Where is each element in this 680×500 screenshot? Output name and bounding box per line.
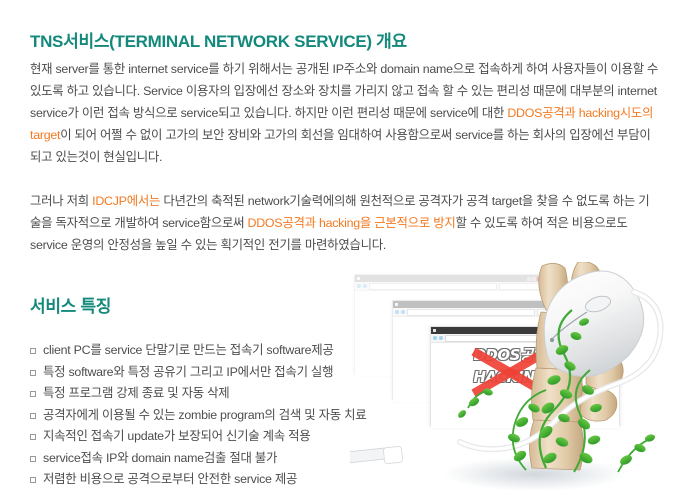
list-item-label: service접속 IP와 domain name검출 절대 불가 <box>43 451 277 465</box>
window-controls <box>527 277 541 281</box>
features-list: client PC를 service 단말기로 만드는 접속기 software… <box>30 340 366 491</box>
window-icon <box>395 303 398 306</box>
list-item-label: 특정 프로그램 강제 종료 및 자동 삭제 <box>43 386 229 400</box>
page-title: TNS서비스(TERMINAL NETWORK SERVICE) 개요 <box>30 27 407 52</box>
square-bullet-icon <box>30 391 36 397</box>
window-icon <box>433 329 436 332</box>
list-item: 특정 프로그램 강제 종료 및 자동 삭제 <box>30 383 366 405</box>
address-bar <box>407 309 535 316</box>
wooden-mannequin-arm <box>529 262 623 470</box>
browser-content <box>431 343 619 428</box>
red-cross-stroke-icon <box>471 348 548 398</box>
square-bullet-icon <box>30 348 36 354</box>
browser-window-middle <box>392 300 582 400</box>
forward-icon <box>401 310 405 314</box>
address-bar <box>445 335 573 342</box>
browser-content <box>355 291 543 376</box>
maximize-icon <box>570 303 574 307</box>
green-vine-decoration <box>457 310 656 472</box>
close-icon <box>575 303 579 307</box>
red-cross-stroke-icon <box>471 348 548 398</box>
search-box <box>499 283 541 290</box>
browser-toolbar <box>393 308 581 317</box>
search-box <box>537 309 579 316</box>
minimize-icon <box>565 303 569 307</box>
back-icon <box>357 284 361 288</box>
mouse-cable <box>460 292 660 449</box>
overview-paragraph-1: 현재 server를 통한 internet service를 하기 위해서는 … <box>30 58 660 168</box>
browser-window-back <box>354 274 544 374</box>
forward-icon <box>439 336 443 340</box>
minimize-icon <box>527 277 531 281</box>
wooden-hand-mouse-vine-art <box>350 262 680 500</box>
security-illustration: DDOS공격 HACKING <box>350 262 680 500</box>
scroll-wheel <box>583 293 612 314</box>
window-controls <box>603 329 617 333</box>
list-item: 지속적인 접속기 update가 보장되어 신기술 계속 적용 <box>30 426 366 448</box>
ddos-hacking-blocked-stamp: DDOS공격 HACKING <box>460 340 560 404</box>
list-item-label: 특정 software와 특정 공유기 그리고 IP에서만 접속기 실행 <box>43 365 333 379</box>
list-item-label: 저렴한 비용으로 공격으로부터 안전한 service 제공 <box>43 472 297 486</box>
browser-toolbar <box>355 282 543 291</box>
list-item: 저렴한 비용으로 공격으로부터 안전한 service 제공 <box>30 469 366 491</box>
square-bullet-icon <box>30 456 36 462</box>
search-box <box>575 335 617 342</box>
paragraph-2-part-1: 그러나 저희 <box>30 194 92 208</box>
list-item: client PC를 service 단말기로 만드는 접속기 software… <box>30 340 366 362</box>
maximize-icon <box>608 329 612 333</box>
square-bullet-icon <box>30 477 36 483</box>
browser-titlebar <box>431 327 619 334</box>
window-icon <box>357 277 360 280</box>
features-title: 서비스 특징 <box>30 292 111 317</box>
stamp-line-1: DDOS공격 <box>460 344 560 365</box>
list-item: 특정 software와 특정 공유기 그리고 IP에서만 접속기 실행 <box>30 362 366 384</box>
browser-toolbar <box>431 334 619 343</box>
window-controls <box>565 303 579 307</box>
paragraph-1-part-2: 이 되어 어쩔 수 없이 고가의 보안 장비와 고가의 회선을 임대하여 사용함… <box>30 128 651 164</box>
square-bullet-icon <box>30 434 36 440</box>
ground-shadow <box>443 457 627 491</box>
back-icon <box>433 336 437 340</box>
close-icon <box>613 329 617 333</box>
browser-titlebar <box>393 301 581 308</box>
list-item-label: 지속적인 접속기 update가 보장되어 신기술 계속 적용 <box>43 429 310 443</box>
list-item-label: 공격자에게 이용될 수 있는 zombie program의 검색 및 자동 치… <box>43 408 366 422</box>
paragraph-2-highlight-2: DDOS공격과 hacking을 근본적으로 방지 <box>248 216 456 230</box>
stamp-line-2: HACKING <box>460 368 560 386</box>
square-bullet-icon <box>30 370 36 376</box>
square-bullet-icon <box>30 413 36 419</box>
computer-mouse-icon <box>350 271 660 464</box>
overview-body: 현재 server를 통한 internet service를 하기 위해서는 … <box>30 58 660 256</box>
list-item: 공격자에게 이용될 수 있는 zombie program의 검색 및 자동 치… <box>30 405 366 427</box>
back-icon <box>395 310 399 314</box>
browser-content <box>393 317 581 402</box>
forward-icon <box>363 284 367 288</box>
browser-window-front <box>430 326 620 426</box>
address-bar <box>369 283 497 290</box>
page-root: TNS서비스(TERMINAL NETWORK SERVICE) 개요 현재 s… <box>0 0 680 500</box>
minimize-icon <box>603 329 607 333</box>
close-icon <box>537 277 541 281</box>
overview-paragraph-2: 그러나 저희 IDCJP에서는 다년간의 축적된 network기술력에의해 원… <box>30 190 660 256</box>
list-item: service접속 IP와 domain name검출 절대 불가 <box>30 448 366 470</box>
browser-titlebar <box>355 275 543 282</box>
list-item-label: client PC를 service 단말기로 만드는 접속기 software… <box>43 343 334 357</box>
maximize-icon <box>532 277 536 281</box>
paragraph-2-highlight-1: IDCJP에서는 <box>92 194 160 208</box>
